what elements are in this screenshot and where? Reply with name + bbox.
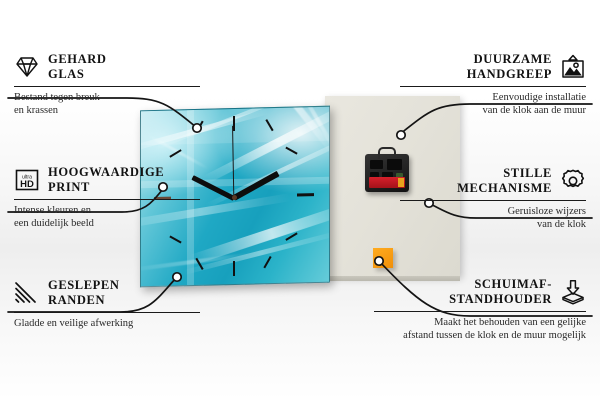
callout-desc-line1: Bestand tegen breuk — [14, 92, 100, 103]
callout-hoogwaardige-print: ultra HD HOOGWAARDIGE PRINT Intense kleu… — [14, 165, 200, 231]
mechanism-hanger-icon — [378, 147, 396, 159]
callout-desc-line1: Maakt het behouden van een gelijke — [434, 317, 586, 328]
clock-tick — [233, 261, 235, 276]
press-down-pad-icon — [560, 279, 586, 305]
callout-desc-line1: Eenvoudige installatie — [492, 92, 586, 103]
callout-divider — [14, 199, 200, 200]
clock-tick — [297, 193, 314, 196]
hanging-picture-icon — [560, 54, 586, 80]
callout-desc-line1: Intense kleuren en — [14, 205, 91, 216]
callout-title-line2: MECHANISME — [457, 181, 552, 195]
clock-tick — [169, 235, 181, 243]
callout-divider — [14, 312, 200, 313]
hd-label: HD — [20, 179, 34, 190]
callout-geslepen-randen: GESLEPEN RANDEN Gladde en veilige afwerk… — [14, 278, 200, 330]
callout-title-line1: HOOGWAARDIGE — [48, 165, 164, 179]
callout-divider — [374, 311, 586, 312]
callout-title-line2: HANDGREEP — [467, 67, 552, 81]
callout-title-line2: GLAS — [48, 67, 84, 81]
callout-title-line1: DUURZAME — [474, 52, 552, 66]
callout-stille-mechanisme: STILLE MECHANISME Geruisloze wijzers van… — [400, 166, 586, 232]
callout-gehard-glas: GEHARD GLAS Bestand tegen breuk en krass… — [14, 52, 200, 118]
callout-duurzame-handgreep: DUURZAME HANDGREEP Eenvoudige installati… — [400, 52, 586, 118]
callout-title-line1: GEHARD — [48, 52, 106, 66]
callout-desc-line1: Gladde en veilige afwerking — [14, 318, 133, 329]
callout-title-line2: RANDEN — [48, 293, 105, 307]
clock-tick — [263, 256, 271, 268]
infographic-canvas: GEHARD GLAS Bestand tegen breuk en krass… — [0, 0, 600, 400]
clock-tick — [233, 116, 235, 131]
callout-desc-line2: afstand tussen de klok en de muur mogeli… — [403, 330, 586, 341]
callout-desc-line2: en krassen — [14, 105, 58, 116]
ultra-hd-icon: ultra HD — [14, 167, 40, 193]
callout-title-line1: SCHUIMAF- — [474, 277, 552, 291]
callout-title-line2: STANDHOUDER — [449, 292, 552, 306]
callout-divider — [400, 200, 586, 201]
diamond-icon — [14, 54, 40, 80]
callout-title-line1: GESLEPEN — [48, 278, 120, 292]
callout-divider — [14, 86, 200, 87]
callout-divider — [400, 86, 586, 87]
callout-title-line1: STILLE — [503, 166, 552, 180]
gear-icon — [560, 168, 586, 194]
callout-desc-line1: Geruisloze wijzers — [508, 206, 586, 217]
callout-desc-line2: een duidelijk beeld — [14, 218, 94, 229]
callout-desc-line2: van de klok aan de muur — [482, 105, 586, 116]
callout-title-line2: PRINT — [48, 180, 90, 194]
callout-schuimafstandhouder: SCHUIMAF- STANDHOUDER Maakt het behouden… — [374, 277, 586, 343]
callout-desc-line2: van de klok — [537, 219, 586, 230]
clock-tick — [285, 147, 297, 155]
diagonal-lines-icon — [14, 280, 40, 306]
foam-spacer — [373, 248, 393, 268]
